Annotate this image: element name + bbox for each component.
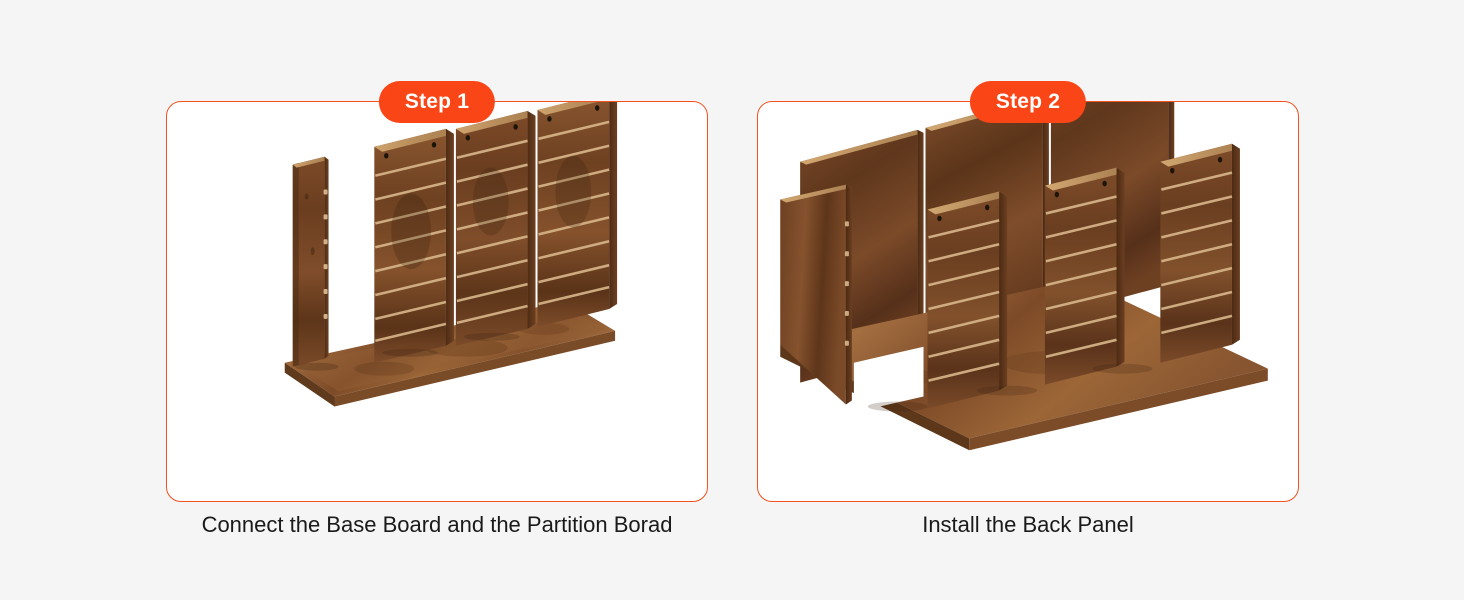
partition-board-2 — [374, 129, 454, 363]
step-card-2: Step 2 — [757, 101, 1299, 502]
step-2-illustration — [758, 102, 1298, 501]
partition-board-1 — [293, 157, 329, 367]
step-badge-2: Step 2 — [970, 81, 1086, 123]
partition-board-3 — [456, 111, 536, 346]
step-card-1: Step 1 — [166, 101, 708, 502]
step-caption-2: Install the Back Panel — [757, 512, 1299, 538]
partition-board-3 — [1160, 144, 1240, 363]
step-badge-1: Step 1 — [379, 81, 495, 123]
partition-board-2 — [1045, 168, 1125, 385]
step-caption-1: Connect the Base Board and the Partition… — [166, 512, 708, 538]
partition-board-4 — [537, 102, 617, 327]
step-1-illustration — [167, 102, 707, 501]
partition-board-1 — [928, 192, 1008, 409]
assembly-instruction-board: Step 1 Connect the Base Board and the Pa… — [0, 0, 1464, 600]
side-panel-left — [780, 185, 852, 405]
